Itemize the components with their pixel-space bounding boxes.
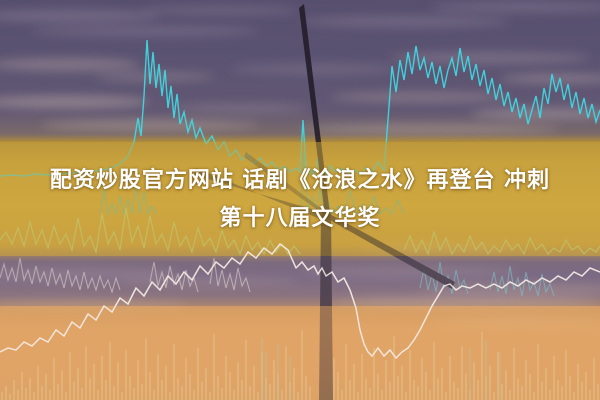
headline-line-2: 第十八届文华奖 bbox=[0, 200, 600, 238]
headline-text: 配资炒股官方网站 话剧《沧浪之水》再登台 冲刺 第十八届文华奖 bbox=[0, 162, 600, 238]
banner-image: 配资炒股官方网站 话剧《沧浪之水》再登台 冲刺 第十八届文华奖 bbox=[0, 0, 600, 400]
headline-line-1: 配资炒股官方网站 话剧《沧浪之水》再登台 冲刺 bbox=[50, 168, 550, 193]
